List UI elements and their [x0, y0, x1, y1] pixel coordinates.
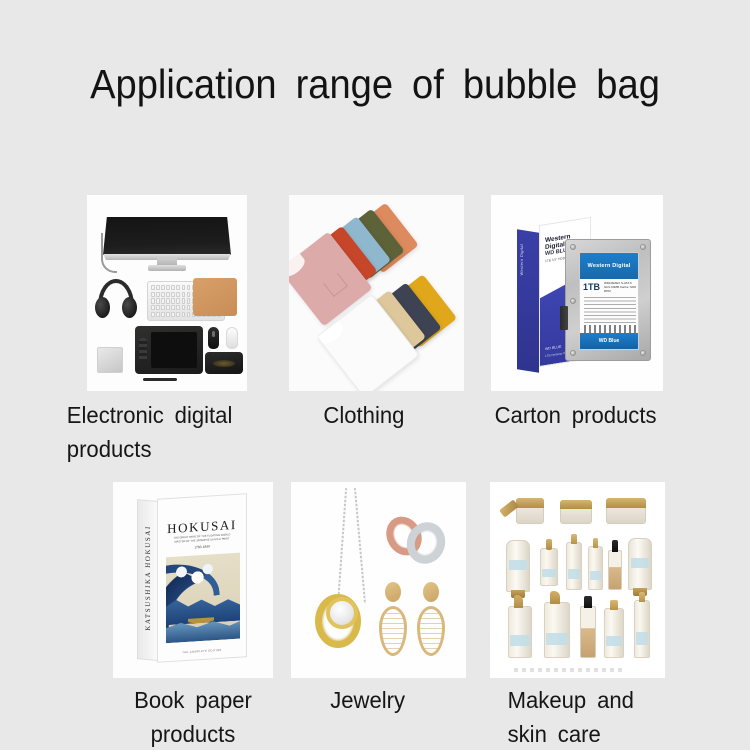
book-cover: HOKUSAI THE GREAT WAVE OF THE FLOATING W…	[157, 493, 247, 663]
clothing-flatlay-scene	[289, 195, 464, 391]
face-tube-left	[506, 540, 530, 592]
electronics-flatlay-scene	[87, 195, 247, 391]
cosmetics-shelf-shadow	[514, 668, 624, 672]
jewelry-scene	[291, 482, 466, 678]
hdd-screw	[570, 244, 576, 250]
headphones-icon	[95, 279, 137, 325]
hdd-label-capacity: 1TB	[583, 282, 600, 292]
lotion-pump-bottle-2	[544, 602, 570, 658]
tablet-express-keys	[139, 338, 147, 362]
mousepad-icon	[193, 278, 237, 316]
hdd-label-brand: Western Digital	[580, 253, 638, 279]
hdd-screw	[570, 350, 576, 356]
gold-pendant	[315, 594, 361, 648]
book-spine: KATSUSHIKA HOKUSAI	[137, 499, 157, 661]
headphone-earcup-right	[122, 297, 137, 318]
mist-spray-bottle	[566, 542, 582, 590]
earring-drop	[417, 606, 445, 656]
necklace-chain-left	[337, 488, 347, 606]
category-caption-clothing: Clothing	[323, 398, 486, 432]
hokusai-book: KATSUSHIKA HOKUSAI HOKUSAI THE GREAT WAV…	[137, 496, 247, 664]
cream-jar-small	[516, 498, 544, 524]
category-image-makeup-skin-care	[490, 482, 665, 678]
gold-earring-right	[417, 582, 445, 656]
drawing-tablet-icon	[135, 326, 203, 374]
wave-foam	[170, 558, 216, 587]
book-spine-text: KATSUSHIKA HOKUSAI	[144, 525, 152, 631]
earring-stud	[423, 582, 439, 602]
toner-bottle	[604, 608, 624, 658]
headphone-cable	[101, 233, 117, 273]
category-caption-jewelry: Jewelry	[330, 683, 484, 717]
pencil-case-icon	[205, 352, 243, 374]
category-image-carton-products: Western Digital Western Digital WD BLUE …	[491, 195, 663, 391]
slim-serum-bottle	[634, 600, 650, 658]
hdd-screw	[570, 298, 576, 304]
mouse-icon-dark	[208, 327, 219, 349]
wd-box-side-panel: Western Digital	[517, 229, 539, 372]
lotion-pump-bottle-1	[508, 606, 532, 658]
foundation-bottle-small	[608, 550, 622, 590]
category-caption-carton: Carton products	[495, 398, 716, 432]
face-tube-right	[628, 538, 652, 590]
external-drive-icon	[97, 347, 123, 373]
category-image-book-paper-products: KATSUSHIKA HOKUSAI HOKUSAI THE GREAT WAV…	[113, 482, 273, 678]
mouse-icon-light	[226, 327, 238, 349]
earring-stud	[385, 582, 401, 602]
cream-jar-large	[606, 498, 646, 524]
book-scene: KATSUSHIKA HOKUSAI HOKUSAI THE GREAT WAV…	[113, 482, 273, 678]
hdd-label-barcode-block	[584, 297, 636, 323]
stylus-icon	[143, 378, 177, 381]
foundation-bottle-tall	[580, 606, 596, 658]
cosmetics-layout	[500, 494, 655, 666]
gold-earring-left	[379, 582, 407, 656]
hdd-label-specs: WD10EZEX S-ATA 6 Gb/s 64MB Cache 7200 RP…	[604, 281, 638, 293]
headphone-earcup-left	[95, 297, 110, 318]
category-image-jewelry	[291, 482, 466, 678]
great-wave-artwork	[166, 553, 240, 644]
category-caption-makeup: Makeup and skin care	[508, 683, 729, 750]
category-image-clothing	[289, 195, 464, 391]
hdd-screw	[640, 350, 646, 356]
earring-drop	[379, 606, 407, 656]
necklace-chain-right	[354, 488, 366, 604]
hdd-sata-connector	[560, 306, 568, 330]
monitor-icon	[103, 217, 231, 255]
cosmetics-scene	[490, 482, 665, 678]
wd-box-subtitle: 1TB 3.5" HDD	[545, 256, 565, 263]
hdd-screw	[640, 244, 646, 250]
book-footer-text: THE COMPLETE EDITION	[158, 647, 246, 655]
cream-jar-medium	[560, 500, 592, 524]
category-caption-electronics: Electronic digital products	[67, 398, 297, 466]
wd-box-side-text: Western Digital	[519, 244, 524, 276]
page-root: Application range of bubble bag	[0, 0, 750, 750]
category-caption-book: Book paper products	[92, 683, 294, 750]
hard-disk-drive: Western Digital 1TB WD10EZEX S-ATA 6 Gb/…	[565, 239, 651, 361]
hdd-label-model: WD Blue	[580, 333, 638, 349]
category-image-electronic-digital-products	[87, 195, 247, 391]
monitor-stand-base	[148, 265, 186, 271]
hard-drive-scene: Western Digital Western Digital WD BLUE …	[491, 195, 663, 391]
product-category-grid: Electronic digital products Clothing	[0, 0, 750, 750]
serum-dropper-bottle	[540, 548, 558, 586]
eye-cream-tube	[588, 546, 603, 590]
hdd-label: Western Digital 1TB WD10EZEX S-ATA 6 Gb/…	[579, 252, 639, 350]
